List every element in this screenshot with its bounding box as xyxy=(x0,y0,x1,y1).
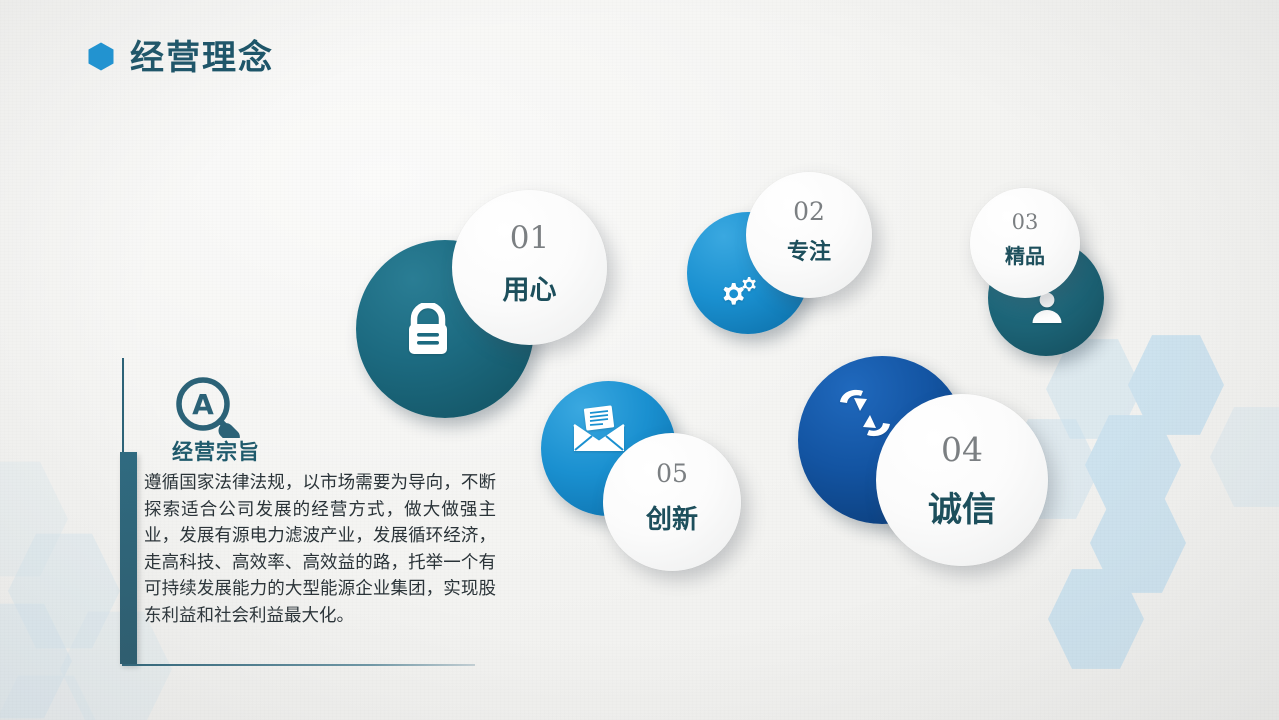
item-03-number: 03 xyxy=(970,210,1080,234)
item-05-number: 05 xyxy=(603,459,741,488)
item-01-number: 01 xyxy=(452,220,607,256)
item-02-number: 02 xyxy=(746,197,872,226)
purpose-underline xyxy=(122,664,475,666)
item-02-label: 专注 xyxy=(746,234,872,266)
hexagon-icon xyxy=(88,42,114,71)
item-group-04[interactable]: 04 诚信 xyxy=(798,356,1048,566)
bg-hexagon xyxy=(0,458,68,580)
item-01-white-circle[interactable]: 01 用心 xyxy=(452,190,607,345)
magnifier-a-icon: A xyxy=(172,376,258,443)
item-05-label: 创新 xyxy=(603,499,741,536)
purpose-body-text: 遵循国家法律法规，以市场需要为导向，不断探索适合公司发展的经营方式，做大做强主业… xyxy=(144,470,496,629)
bg-hexagon xyxy=(0,672,102,720)
item-02-white-circle[interactable]: 02 专注 xyxy=(746,172,872,298)
item-group-03[interactable]: 03 精品 xyxy=(970,188,1130,358)
lock-icon xyxy=(400,302,456,358)
bg-hexagon xyxy=(1210,404,1279,510)
item-01-label: 用心 xyxy=(452,268,607,307)
page-title: 经营理念 xyxy=(130,30,274,79)
purpose-accent-bar xyxy=(120,452,137,664)
item-group-05[interactable]: 05 创新 xyxy=(541,381,746,571)
svg-text:A: A xyxy=(192,388,214,421)
item-group-02[interactable]: 02 专注 xyxy=(687,172,877,352)
item-03-white-circle[interactable]: 03 精品 xyxy=(970,188,1080,298)
item-03-label: 精品 xyxy=(970,240,1080,269)
slide-canvas: 经营理念 A 经营宗旨 遵循国家法律法规，以市场需要为导向，不断探索适合公司发展… xyxy=(0,0,1279,720)
envelope-icon xyxy=(571,403,627,455)
item-04-white-circle[interactable]: 04 诚信 xyxy=(876,394,1048,566)
slide-header: 经营理念 xyxy=(88,30,274,79)
purpose-title: 经营宗旨 xyxy=(172,436,260,466)
item-04-number: 04 xyxy=(876,430,1048,469)
item-04-label: 诚信 xyxy=(876,482,1048,531)
gears-icon xyxy=(715,274,761,316)
purpose-thin-line xyxy=(122,358,124,458)
item-05-white-circle[interactable]: 05 创新 xyxy=(603,433,741,571)
bg-hexagon xyxy=(1048,566,1144,672)
